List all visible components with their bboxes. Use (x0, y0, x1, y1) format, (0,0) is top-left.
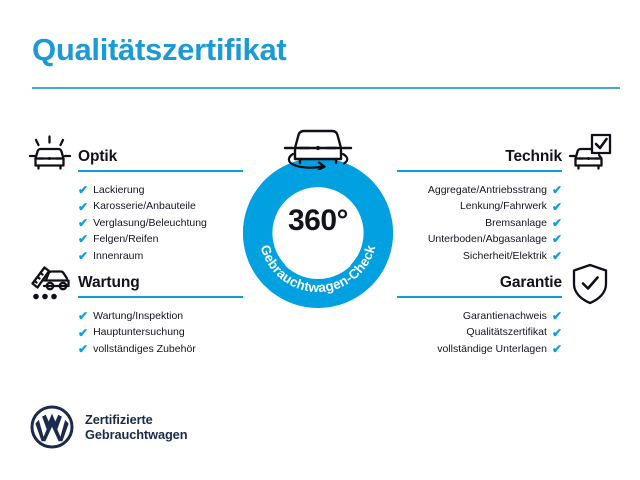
vw-logo-icon (30, 405, 74, 449)
section-wartung-divider (78, 296, 243, 298)
check-icon: ✔ (78, 233, 88, 245)
list-item-label: Hauptuntersuchung (93, 324, 185, 340)
section-optik-title: Optik (78, 146, 243, 168)
check-icon: ✔ (78, 310, 88, 322)
list-item: ✔Karosserie/Anbauteile (78, 198, 243, 214)
list-item-label: Sicherheit/Elektrik (463, 248, 547, 264)
section-technik: Technik Aggregate/Antriebsstrang✔ Lenkun… (397, 146, 562, 264)
check-icon: ✔ (78, 343, 88, 355)
list-item-label: Lackierung (93, 182, 144, 198)
badge-360: Gebrauchtwagen-Check 360° (243, 158, 393, 308)
list-item: ✔Felgen/Reifen (78, 231, 243, 247)
list-item-label: Wartung/Inspektion (93, 308, 183, 324)
check-icon: ✔ (552, 201, 562, 213)
list-item-label: vollständige Unterlagen (437, 341, 547, 357)
list-item-label: Verglasung/Beleuchtung (93, 215, 207, 231)
list-item-label: vollständiges Zubehör (93, 341, 196, 357)
page-title: Qualitätszertifikat (32, 34, 286, 65)
section-garantie-divider (397, 296, 562, 298)
list-item: Sicherheit/Elektrik✔ (397, 248, 562, 264)
section-technik-divider (397, 170, 562, 172)
list-item: ✔Wartung/Inspektion (78, 308, 243, 324)
list-item: ✔Innenraum (78, 248, 243, 264)
list-item: Lenkung/Fahrwerk✔ (397, 198, 562, 214)
section-technik-header: Technik (397, 146, 562, 172)
footer-branding: Zertifizierte Gebrauchtwagen (30, 405, 187, 449)
check-icon: ✔ (552, 310, 562, 322)
list-item: Bremsanlage✔ (397, 215, 562, 231)
section-optik-header: Optik (78, 146, 243, 172)
certificate-page: Qualitätszertifikat Optik ✔Lackierung ✔K… (0, 0, 640, 480)
section-optik-divider (78, 170, 243, 172)
check-icon: ✔ (552, 250, 562, 262)
check-icon: ✔ (78, 250, 88, 262)
list-item: ✔Hauptuntersuchung (78, 324, 243, 340)
car-checkbox-icon (567, 131, 613, 178)
list-item-label: Innenraum (93, 248, 143, 264)
list-item: Qualitätszertifikat✔ (397, 324, 562, 340)
section-technik-items: Aggregate/Antriebsstrang✔ Lenkung/Fahrwe… (397, 182, 562, 264)
car-shine-icon (27, 131, 73, 178)
section-wartung-title: Wartung (78, 272, 243, 294)
list-item: ✔vollständiges Zubehör (78, 341, 243, 357)
footer-line-1: Zertifizierte (85, 412, 187, 427)
badge-degrees: 360° (243, 204, 393, 238)
check-icon: ✔ (78, 217, 88, 229)
list-item-label: Qualitätszertifikat (466, 324, 547, 340)
section-garantie-title: Garantie (397, 272, 562, 294)
list-item: Aggregate/Antriebsstrang✔ (397, 182, 562, 198)
list-item-label: Felgen/Reifen (93, 231, 158, 247)
list-item-label: Aggregate/Antriebsstrang (428, 182, 547, 198)
list-item-label: Unterboden/Abgasanlage (428, 231, 547, 247)
check-icon: ✔ (552, 233, 562, 245)
check-icon: ✔ (78, 184, 88, 196)
list-item: ✔Lackierung (78, 182, 243, 198)
list-item-label: Garantienachweis (463, 308, 547, 324)
list-item: Garantienachweis✔ (397, 308, 562, 324)
section-garantie-header: Garantie (397, 272, 562, 298)
section-wartung-items: ✔Wartung/Inspektion ✔Hauptuntersuchung ✔… (78, 308, 243, 357)
section-wartung: Wartung ✔Wartung/Inspektion ✔Hauptunters… (78, 272, 243, 357)
title-divider (32, 87, 620, 89)
list-item: vollständige Unterlagen✔ (397, 341, 562, 357)
footer-line-2: Gebrauchtwagen (85, 427, 187, 442)
list-item: ✔Verglasung/Beleuchtung (78, 215, 243, 231)
section-optik: Optik ✔Lackierung ✔Karosserie/Anbauteile… (78, 146, 243, 264)
footer-text: Zertifizierte Gebrauchtwagen (85, 412, 187, 442)
list-item-label: Bremsanlage (485, 215, 547, 231)
check-icon: ✔ (552, 327, 562, 339)
section-garantie: Garantie Garantienachweis✔ Qualitätszert… (397, 272, 562, 357)
section-garantie-items: Garantienachweis✔ Qualitätszertifikat✔ v… (397, 308, 562, 357)
section-optik-items: ✔Lackierung ✔Karosserie/Anbauteile ✔Verg… (78, 182, 243, 264)
check-icon: ✔ (552, 184, 562, 196)
list-item: Unterboden/Abgasanlage✔ (397, 231, 562, 247)
car-wrench-icon (27, 259, 73, 308)
shield-check-icon (570, 262, 610, 311)
car-rotate-icon (275, 124, 361, 170)
section-wartung-header: Wartung (78, 272, 243, 298)
check-icon: ✔ (552, 217, 562, 229)
list-item-label: Lenkung/Fahrwerk (460, 198, 547, 214)
check-icon: ✔ (552, 343, 562, 355)
check-icon: ✔ (78, 327, 88, 339)
list-item-label: Karosserie/Anbauteile (93, 198, 196, 214)
check-icon: ✔ (78, 201, 88, 213)
section-technik-title: Technik (397, 146, 562, 168)
